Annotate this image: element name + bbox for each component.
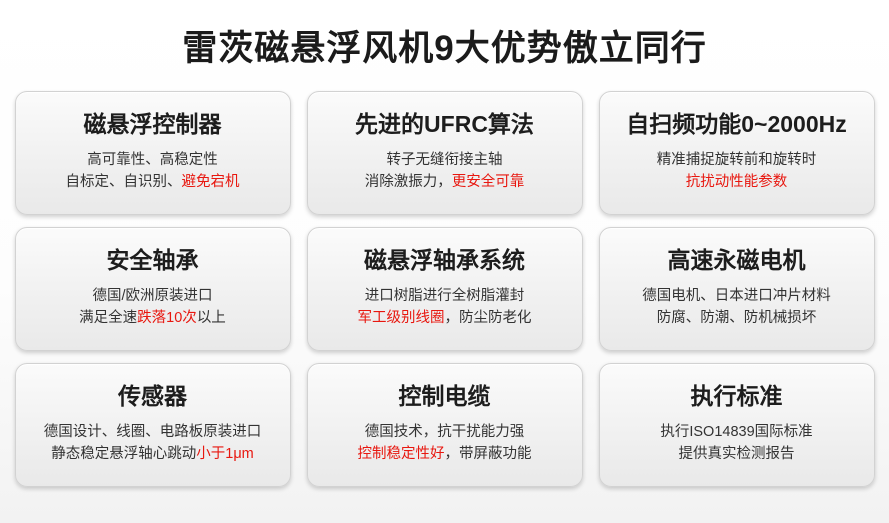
- advantage-card-line: 精准捕捉旋转前和旋转时: [657, 149, 817, 171]
- advantage-card-line: 自标定、自识别、避免宕机: [66, 171, 240, 193]
- advantage-card-line: 军工级别线圈，防尘防老化: [358, 307, 532, 329]
- advantage-card: 传感器德国设计、线圈、电路板原装进口静态稳定悬浮轴心跳动小于1μm: [15, 363, 291, 487]
- advantage-card-body: 精准捕捉旋转前和旋转时抗扰动性能参数: [657, 149, 817, 194]
- advantage-card-grid: 磁悬浮控制器高可靠性、高稳定性自标定、自识别、避免宕机先进的UFRC算法转子无缝…: [15, 91, 875, 487]
- advantage-card-body: 高可靠性、高稳定性自标定、自识别、避免宕机: [66, 149, 240, 194]
- advantage-card-title: 先进的UFRC算法: [355, 111, 534, 139]
- advantage-card-body: 进口树脂进行全树脂灌封军工级别线圈，防尘防老化: [358, 285, 532, 330]
- advantage-card: 控制电缆德国技术，抗干扰能力强控制稳定性好，带屏蔽功能: [307, 363, 583, 487]
- advantage-card-title: 控制电缆: [399, 383, 491, 411]
- highlight-text: 更安全可靠: [452, 174, 525, 190]
- advantage-card-line: 进口树脂进行全树脂灌封: [358, 285, 532, 307]
- highlight-text: 军工级别线圈: [358, 310, 445, 326]
- advantage-card: 执行标准执行ISO14839国际标准提供真实检测报告: [599, 363, 875, 487]
- advantage-card-line: 满足全速跌落10次以上: [79, 307, 226, 329]
- advantage-card-line: 执行ISO14839国际标准: [660, 421, 812, 443]
- advantage-card-line: 控制稳定性好，带屏蔽功能: [358, 443, 532, 465]
- plain-text: 满足全速: [79, 310, 137, 326]
- advantage-card: 先进的UFRC算法转子无缝衔接主轴消除激振力，更安全可靠: [307, 91, 583, 215]
- advantage-card-title: 安全轴承: [107, 247, 199, 275]
- advantage-card-line: 高可靠性、高稳定性: [66, 149, 240, 171]
- advantage-card: 高速永磁电机德国电机、日本进口冲片材料防腐、防潮、防机械损坏: [599, 227, 875, 351]
- advantage-card-line: 德国/欧洲原装进口: [79, 285, 226, 307]
- advantage-card-title: 自扫频功能0~2000Hz: [626, 111, 847, 139]
- plain-text: 德国设计、线圈、电路板原装进口: [44, 424, 262, 440]
- plain-text: 德国电机、日本进口冲片材料: [642, 288, 831, 304]
- advantage-card: 自扫频功能0~2000Hz精准捕捉旋转前和旋转时抗扰动性能参数: [599, 91, 875, 215]
- plain-text: 执行ISO14839国际标准: [660, 424, 812, 440]
- plain-text: 自标定、自识别、: [66, 174, 182, 190]
- advantage-card-body: 执行ISO14839国际标准提供真实检测报告: [660, 421, 812, 466]
- plain-text: 静态稳定悬浮轴心跳动: [51, 446, 196, 462]
- plain-text: 德国/欧洲原装进口: [92, 288, 212, 304]
- advantage-card-title: 高速永磁电机: [668, 247, 806, 275]
- plain-text: 精准捕捉旋转前和旋转时: [657, 152, 817, 168]
- advantage-card-line: 德国电机、日本进口冲片材料: [642, 285, 831, 307]
- plain-text: ，带屏蔽功能: [445, 446, 532, 462]
- advantage-card-line: 德国技术，抗干扰能力强: [358, 421, 532, 443]
- page-title: 雷茨磁悬浮风机9大优势傲立同行: [0, 0, 889, 69]
- advantage-card-body: 转子无缝衔接主轴消除激振力，更安全可靠: [365, 149, 525, 194]
- poster-root: 雷茨磁悬浮风机9大优势傲立同行 磁悬浮控制器高可靠性、高稳定性自标定、自识别、避…: [0, 0, 889, 523]
- advantage-card-line: 德国设计、线圈、电路板原装进口: [44, 421, 262, 443]
- advantage-card-line: 静态稳定悬浮轴心跳动小于1μm: [44, 443, 262, 465]
- highlight-text: 抗扰动性能参数: [686, 174, 788, 190]
- highlight-text: 小于1μm: [196, 446, 254, 462]
- advantage-card-body: 德国设计、线圈、电路板原装进口静态稳定悬浮轴心跳动小于1μm: [44, 421, 262, 466]
- plain-text: 提供真实检测报告: [679, 446, 795, 462]
- plain-text: 消除激振力，: [365, 174, 452, 190]
- plain-text: 德国技术，抗干扰能力强: [365, 424, 525, 440]
- highlight-text: 避免宕机: [182, 174, 240, 190]
- advantage-card-line: 转子无缝衔接主轴: [365, 149, 525, 171]
- plain-text: 防腐、防潮、防机械损坏: [657, 310, 817, 326]
- highlight-text: 控制稳定性好: [358, 446, 445, 462]
- advantage-card: 磁悬浮轴承系统进口树脂进行全树脂灌封军工级别线圈，防尘防老化: [307, 227, 583, 351]
- advantage-card-body: 德国/欧洲原装进口满足全速跌落10次以上: [79, 285, 226, 330]
- plain-text: 转子无缝衔接主轴: [387, 152, 503, 168]
- advantage-card-title: 磁悬浮控制器: [84, 111, 222, 139]
- advantage-card: 安全轴承德国/欧洲原装进口满足全速跌落10次以上: [15, 227, 291, 351]
- advantage-card-line: 抗扰动性能参数: [657, 171, 817, 193]
- highlight-text: 跌落10次: [137, 310, 197, 326]
- advantage-card-line: 防腐、防潮、防机械损坏: [642, 307, 831, 329]
- plain-text: 以上: [197, 310, 226, 326]
- advantage-card-title: 传感器: [118, 383, 187, 411]
- plain-text: 进口树脂进行全树脂灌封: [365, 288, 525, 304]
- advantage-card-line: 提供真实检测报告: [660, 443, 812, 465]
- plain-text: 高可靠性、高稳定性: [87, 152, 218, 168]
- advantage-card: 磁悬浮控制器高可靠性、高稳定性自标定、自识别、避免宕机: [15, 91, 291, 215]
- advantage-card-body: 德国技术，抗干扰能力强控制稳定性好，带屏蔽功能: [358, 421, 532, 466]
- advantage-card-line: 消除激振力，更安全可靠: [365, 171, 525, 193]
- advantage-card-title: 执行标准: [691, 383, 783, 411]
- plain-text: ，防尘防老化: [445, 310, 532, 326]
- advantage-card-body: 德国电机、日本进口冲片材料防腐、防潮、防机械损坏: [642, 285, 831, 330]
- advantage-card-title: 磁悬浮轴承系统: [364, 247, 525, 275]
